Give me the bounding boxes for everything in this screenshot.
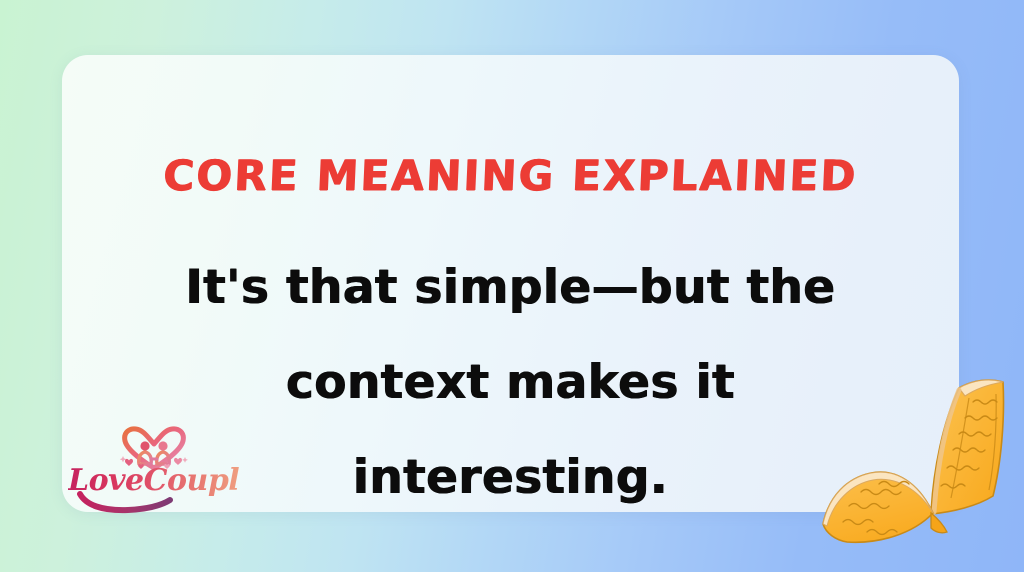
brand-logo: LoveCouplez (68, 426, 240, 518)
body-line-2: context makes it (104, 335, 917, 430)
open-book-icon (813, 372, 1024, 562)
poster-canvas: CORE MEANING EXPLAINED It's that simple—… (0, 0, 1024, 572)
page-title: CORE MEANING EXPLAINED (61, 155, 960, 197)
body-line-1: It's that simple—but the (104, 240, 917, 335)
logo-swash-icon (76, 489, 206, 515)
